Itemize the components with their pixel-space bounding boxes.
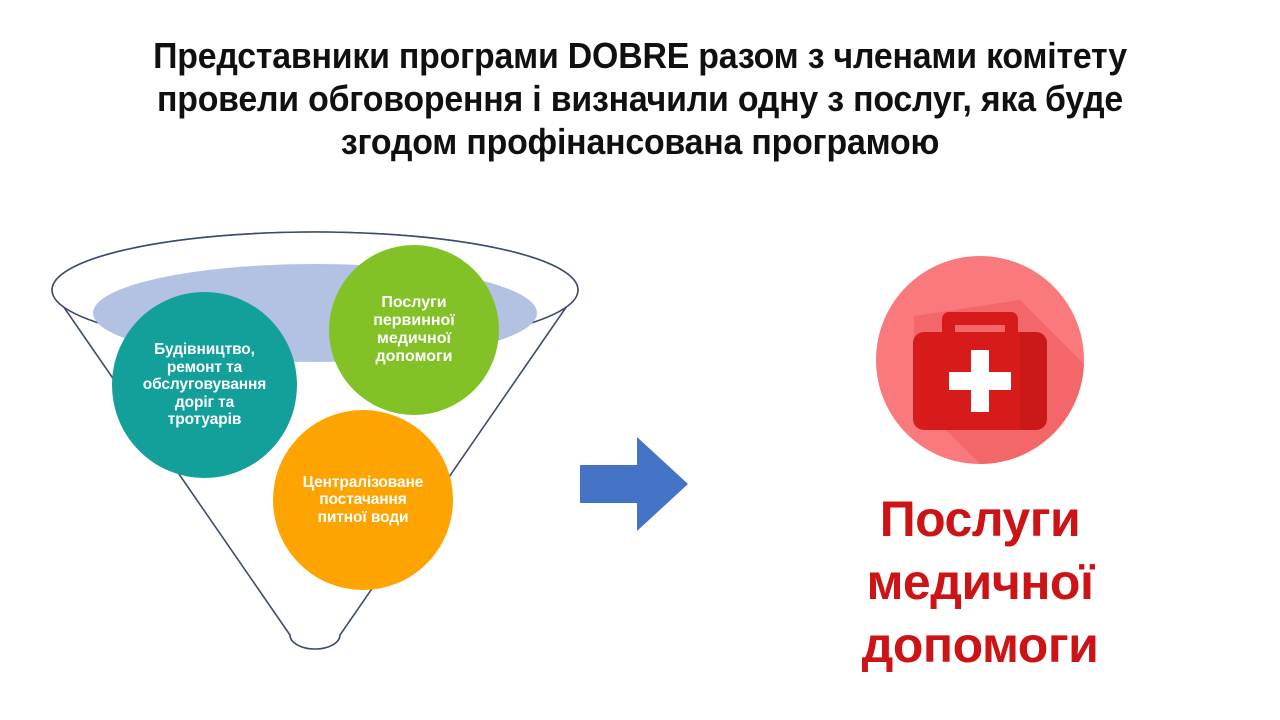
services-funnel: Будівництво, ремонт та обслуговування до…: [30, 230, 600, 690]
funnel-bubble-water-supply[interactable]: Централізоване постачання питної води: [273, 410, 453, 590]
page-title: Представники програми DOBRE разом з член…: [123, 34, 1157, 163]
first-aid-kit-icon: [870, 250, 1090, 470]
result-block: Послуги медичної допомоги: [760, 250, 1200, 690]
right-arrow: [580, 432, 690, 536]
funnel-bubble-primary-health[interactable]: Послуги первинної медичної допомоги: [329, 245, 499, 415]
funnel-bubble-roads[interactable]: Будівництво, ремонт та обслуговування до…: [112, 292, 297, 478]
kit-body-shade: [1020, 332, 1047, 430]
result-caption: Послуги медичної допомоги: [760, 488, 1200, 677]
right-arrow-icon: [580, 432, 690, 536]
